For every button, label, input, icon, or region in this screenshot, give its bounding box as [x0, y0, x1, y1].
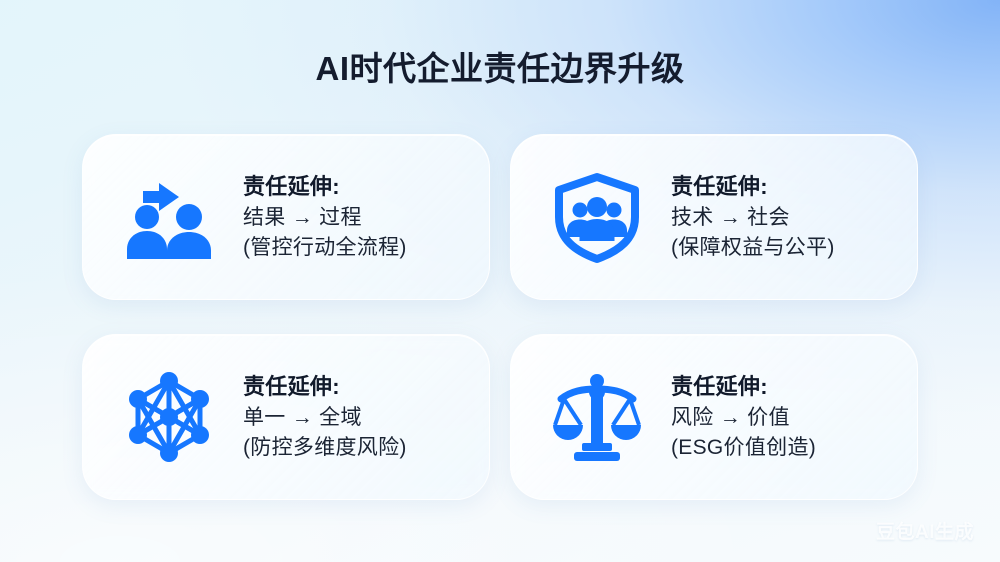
slide-canvas: AI时代企业责任边界升级 责任延伸: 结果 → 过程 (管控行动全流程 [0, 0, 1000, 562]
card-heading: 责任延伸: [671, 372, 895, 401]
card-line-2: (防控多维度风险) [243, 433, 467, 463]
shield-people-icon [545, 165, 649, 269]
watermark: 豆包AI生成 [876, 517, 974, 544]
card-heading: 责任延伸: [243, 172, 467, 201]
card-line-2: (保障权益与公平) [671, 233, 895, 263]
card-heading: 责任延伸: [671, 172, 895, 201]
card-grid: 责任延伸: 结果 → 过程 (管控行动全流程) [82, 134, 918, 500]
card-responsibility-process[interactable]: 责任延伸: 结果 → 过程 (管控行动全流程) [82, 134, 490, 300]
card-line-1: 结果 → 过程 [243, 203, 467, 233]
card-text: 责任延伸: 风险 → 价值 (ESG价值创造) [671, 372, 895, 463]
card-line-2: (管控行动全流程) [243, 233, 467, 263]
network-nodes-icon [117, 365, 221, 469]
two-people-arrow-icon [117, 165, 221, 269]
balance-scale-icon [545, 365, 649, 469]
card-responsibility-society[interactable]: 责任延伸: 技术 → 社会 (保障权益与公平) [510, 134, 918, 300]
card-heading: 责任延伸: [243, 372, 467, 401]
card-text: 责任延伸: 技术 → 社会 (保障权益与公平) [671, 172, 895, 263]
card-responsibility-domain[interactable]: 责任延伸: 单一 → 全域 (防控多维度风险) [82, 334, 490, 500]
card-text: 责任延伸: 结果 → 过程 (管控行动全流程) [243, 172, 467, 263]
card-line-1: 技术 → 社会 [671, 203, 895, 233]
card-line-1: 单一 → 全域 [243, 403, 467, 433]
card-responsibility-value[interactable]: 责任延伸: 风险 → 价值 (ESG价值创造) [510, 334, 918, 500]
card-line-1: 风险 → 价值 [671, 403, 895, 433]
card-text: 责任延伸: 单一 → 全域 (防控多维度风险) [243, 372, 467, 463]
page-title: AI时代企业责任边界升级 [0, 42, 1000, 90]
card-line-2: (ESG价值创造) [671, 433, 895, 463]
